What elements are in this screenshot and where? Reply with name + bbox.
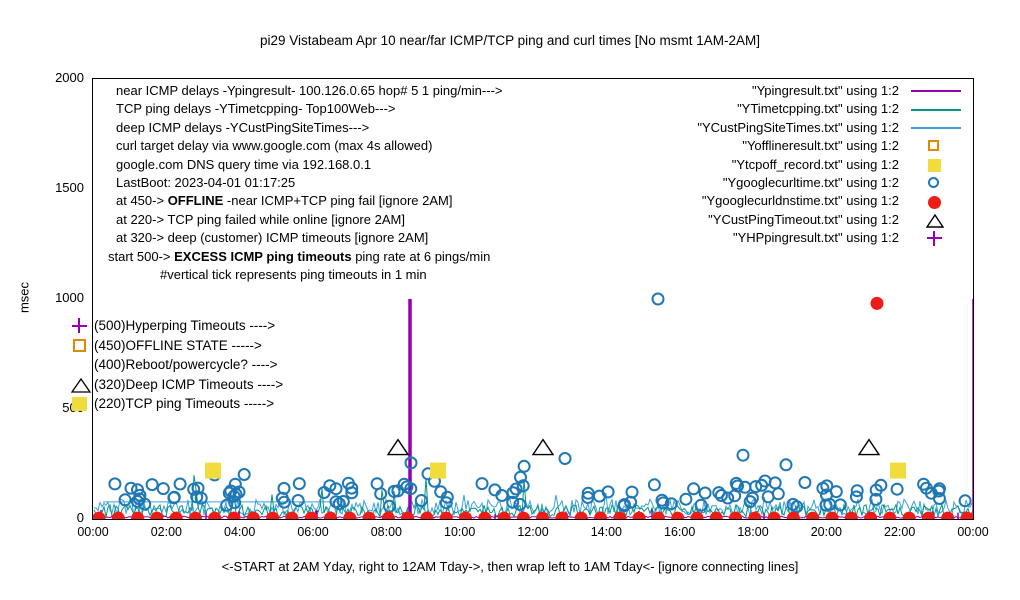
legend-line-swatch — [911, 90, 961, 92]
chart-canvas: pi29 Vistabeam Apr 10 near/far ICMP/TCP … — [0, 0, 1020, 600]
x-axis-label: <-START at 2AM Yday, right to 12AM Tday-… — [0, 559, 1020, 574]
y-tick-label: 2000 — [26, 70, 84, 85]
legend-item-key — [907, 137, 965, 155]
x-tick-label: 20:00 — [796, 525, 856, 539]
marker-key-label: (220)TCP ping Timeouts -----> — [94, 394, 274, 414]
marker-key-label: (450)OFFLINE STATE -----> — [94, 336, 262, 356]
marker-key-label: (320)Deep ICMP Timeouts ----> — [94, 375, 283, 395]
annotation-line: near ICMP delays -Ypingresult- 100.126.0… — [100, 82, 503, 100]
y-tick-label: 1500 — [26, 180, 84, 195]
legend-item-key — [907, 156, 965, 174]
x-tick-label: 14:00 — [576, 525, 636, 539]
annotation-line: TCP ping delays -YTimetcpping- Top100Web… — [100, 100, 503, 118]
marker-key-label: (500)Hyperping Timeouts ----> — [94, 316, 275, 336]
marker-key-spacer — [66, 355, 94, 374]
annotation-line: at 220-> TCP ping failed while online [i… — [100, 211, 503, 229]
y-tick-label: 1000 — [26, 290, 84, 305]
x-tick-label: 22:00 — [870, 525, 930, 539]
x-tick-label: 00:00 — [63, 525, 123, 539]
annotation-line: LastBoot: 2023-04-01 01:17:25 — [100, 174, 503, 192]
x-tick-label: 12:00 — [503, 525, 563, 539]
legend-item-key — [907, 82, 965, 100]
legend-item: "YTimetcpping.txt" using 1:2 — [620, 100, 965, 118]
x-tick-label: 06:00 — [283, 525, 343, 539]
legend-line-swatch — [911, 127, 961, 129]
plus-icon — [927, 231, 942, 246]
legend-item: "Ygooglecurltime.txt" using 1:2 — [620, 174, 965, 192]
legend-item-key — [907, 101, 965, 119]
legend-item-label: "Ygooglecurldnstime.txt" using 1:2 — [702, 192, 907, 210]
legend-item-label: "Ytcpoff_record.txt" using 1:2 — [732, 156, 907, 174]
legend-item-label: "YHPpingresult.txt" using 1:2 — [733, 229, 907, 247]
y-tick-label: 0 — [26, 510, 84, 525]
annotation-line: #vertical tick represents ping timeouts … — [100, 266, 503, 284]
annotation-line: google.com DNS query time via 192.168.0.… — [100, 156, 503, 174]
legend-item: "Ypingresult.txt" using 1:2 — [620, 82, 965, 100]
legend-item-key — [907, 193, 965, 211]
open-square-icon — [66, 336, 94, 355]
page-title: pi29 Vistabeam Apr 10 near/far ICMP/TCP … — [0, 33, 1020, 48]
legend-item: "Yofflineresult.txt" using 1:2 — [620, 137, 965, 155]
annotation-line: at 450-> OFFLINE -near ICMP+TCP ping fai… — [100, 192, 503, 210]
legend-item-key — [907, 229, 965, 247]
legend-item: "YCustPingTimeout.txt" using 1:2 — [620, 211, 965, 229]
x-tick-label: 02:00 — [136, 525, 196, 539]
legend-item: "YCustPingSiteTimes.txt" using 1:2 — [620, 119, 965, 137]
filled-square-icon — [928, 159, 941, 172]
filled-circle-icon — [928, 196, 941, 209]
open-circle-icon — [928, 177, 939, 188]
legend-item: "YHPpingresult.txt" using 1:2 — [620, 229, 965, 247]
x-tick-label: 04:00 — [210, 525, 270, 539]
filled-square-icon — [66, 394, 94, 413]
open-square-icon — [928, 140, 939, 151]
legend-item: "Ygooglecurldnstime.txt" using 1:2 — [620, 192, 965, 210]
plus-icon — [66, 316, 94, 335]
legend-item-label: "YTimetcpping.txt" using 1:2 — [737, 100, 907, 118]
legend-item-label: "Yofflineresult.txt" using 1:2 — [742, 137, 907, 155]
legend-item-label: "Ygooglecurltime.txt" using 1:2 — [723, 174, 907, 192]
series-ycustpingtimeout — [388, 440, 879, 455]
x-tick-label: 00:00 — [943, 525, 1003, 539]
marker-key-label: (400)Reboot/powercycle? ----> — [94, 355, 277, 375]
series-ytcpoff-record — [205, 463, 906, 479]
legend: "Ypingresult.txt" using 1:2"YTimetcpping… — [620, 82, 965, 248]
x-tick-label: 16:00 — [650, 525, 710, 539]
legend-item-key — [907, 174, 965, 192]
legend-item-label: "YCustPingTimeout.txt" using 1:2 — [708, 211, 907, 229]
legend-item-key — [907, 211, 965, 229]
legend-item-label: "YCustPingSiteTimes.txt" using 1:2 — [697, 119, 907, 137]
legend-line-swatch — [911, 109, 961, 111]
x-tick-label: 08:00 — [356, 525, 416, 539]
legend-item: "Ytcpoff_record.txt" using 1:2 — [620, 156, 965, 174]
x-tick-label: 18:00 — [723, 525, 783, 539]
annotation-block: near ICMP delays -Ypingresult- 100.126.0… — [100, 82, 503, 284]
annotation-line: curl target delay via www.google.com (ma… — [100, 137, 503, 155]
legend-item-key — [907, 119, 965, 137]
annotation-line: start 500-> EXCESS ICMP ping timeouts pi… — [100, 248, 503, 266]
legend-item-label: "Ypingresult.txt" using 1:2 — [752, 82, 907, 100]
x-tick-label: 10:00 — [430, 525, 490, 539]
open-triangle-icon — [66, 375, 94, 394]
annotation-line: at 320-> deep (customer) ICMP timeouts [… — [100, 229, 503, 247]
annotation-line: deep ICMP delays -YCustPingSiteTimes---> — [100, 119, 503, 137]
